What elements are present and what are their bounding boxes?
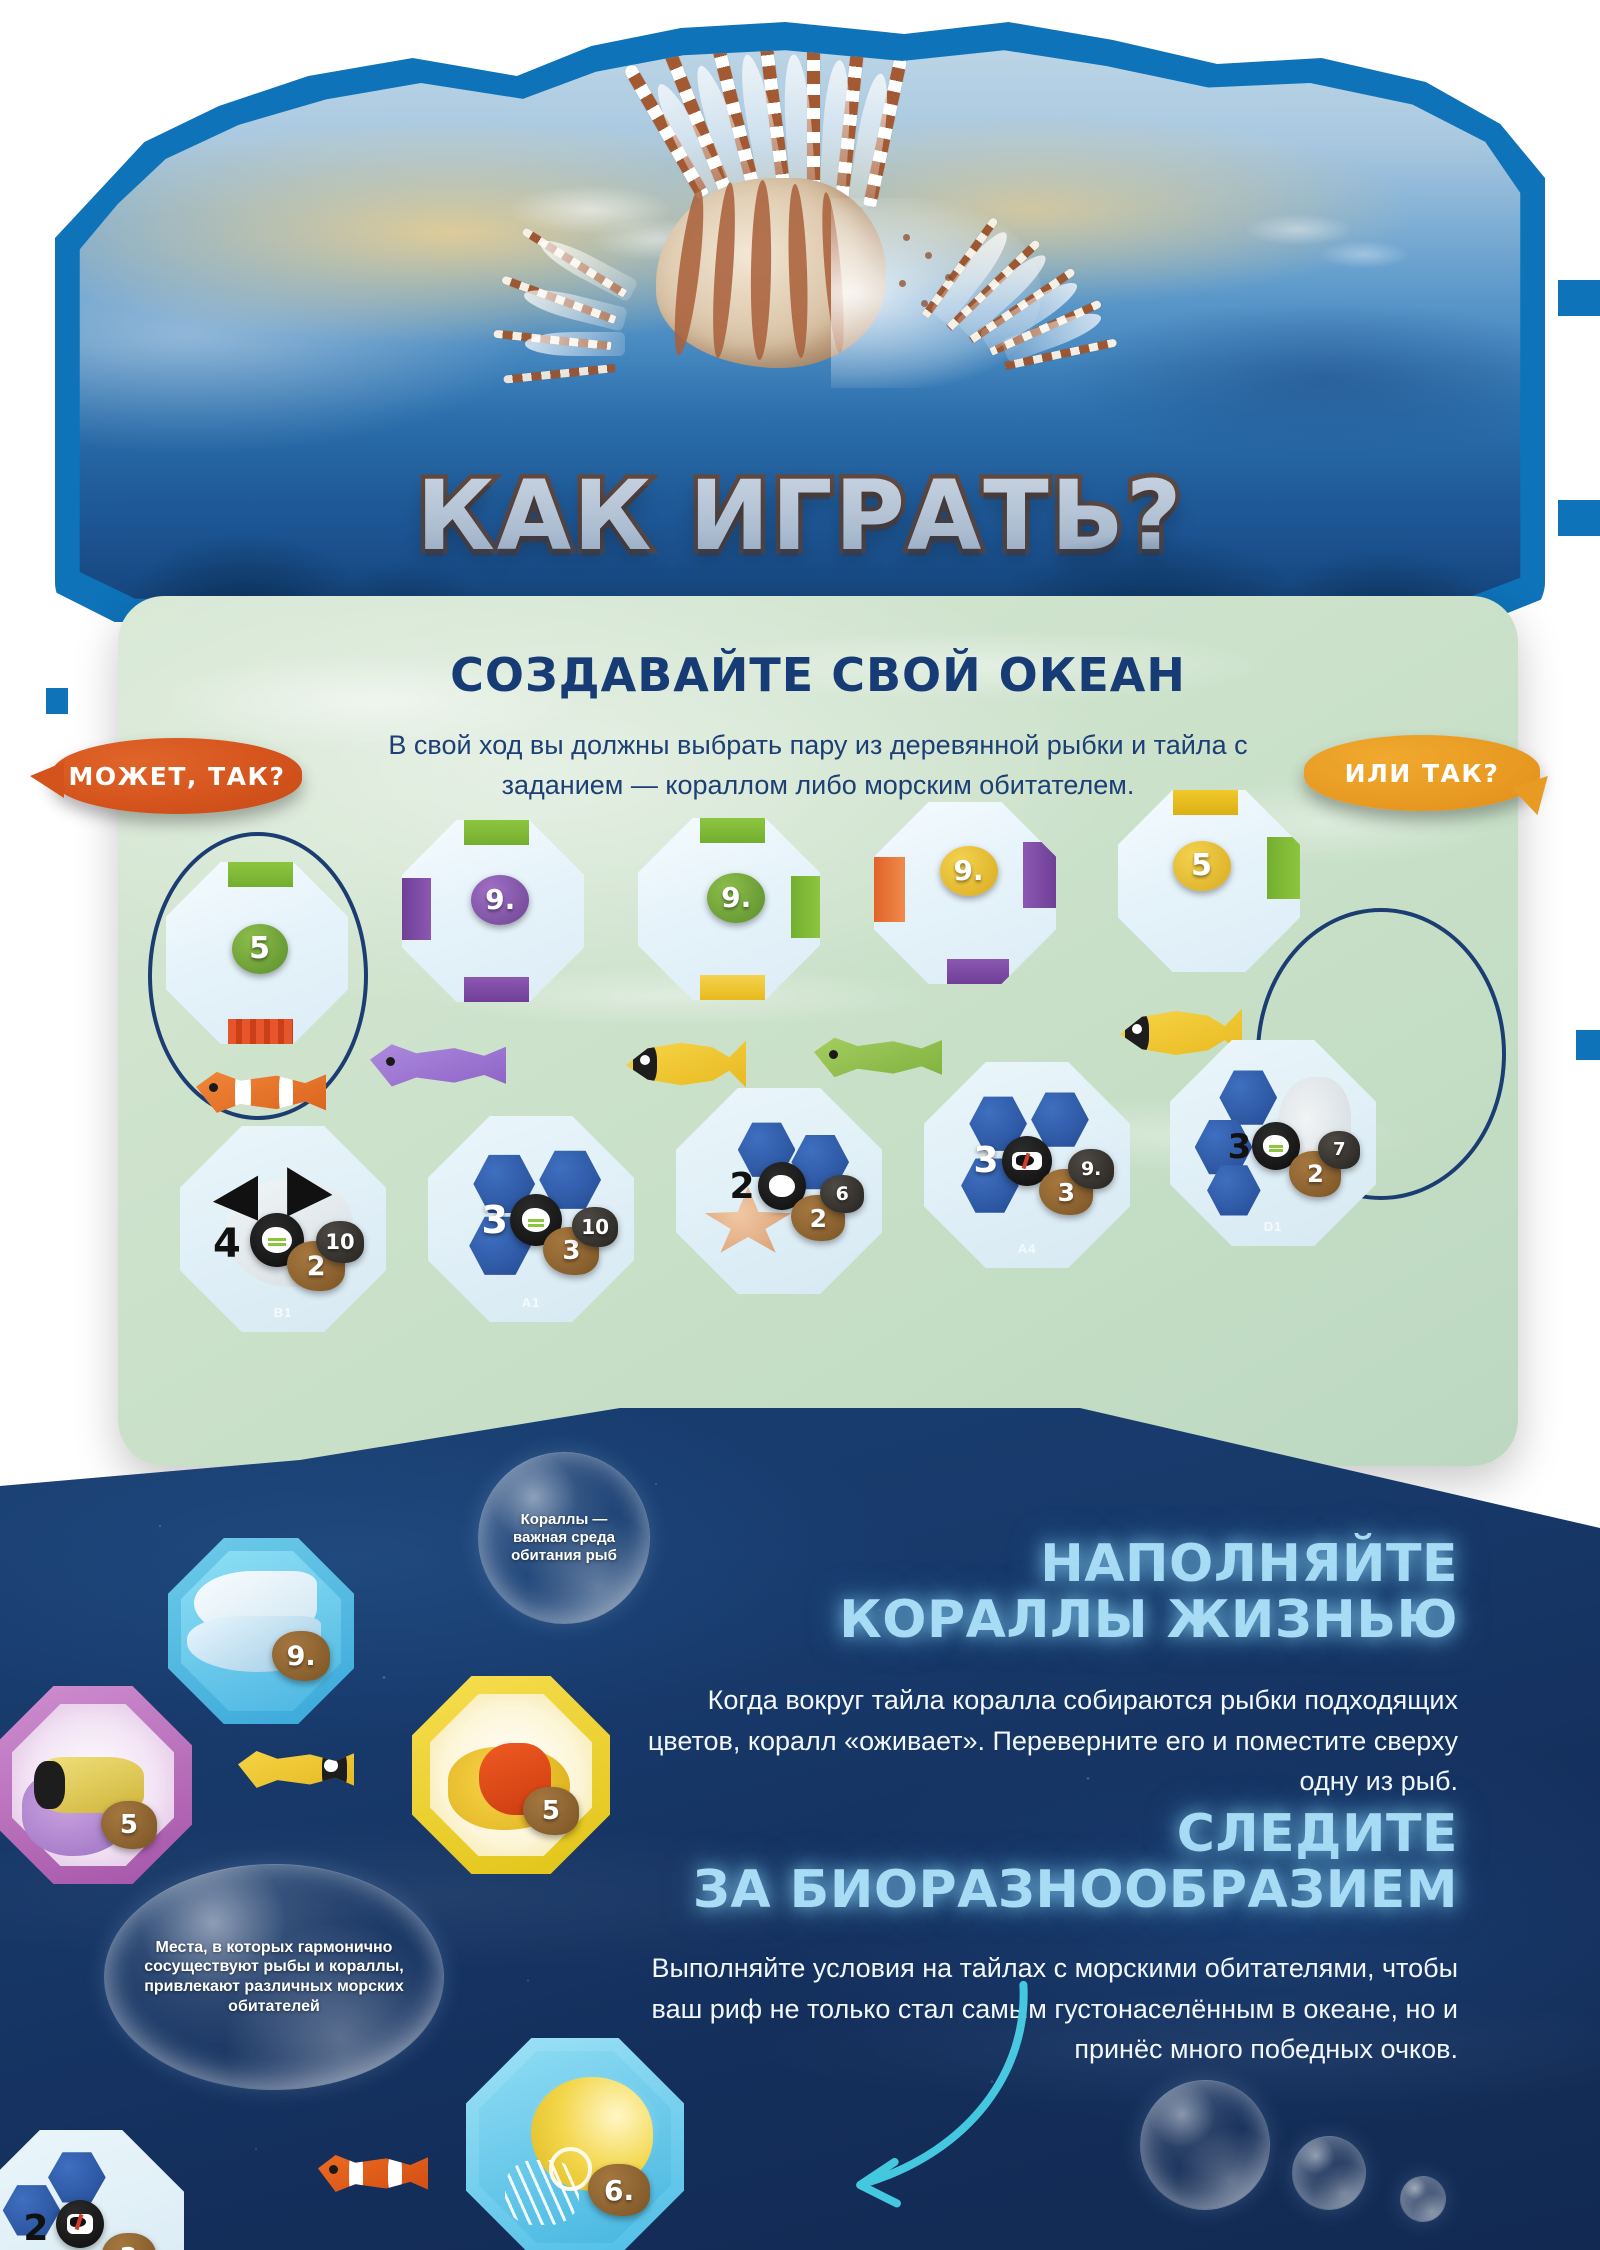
tile-badge: 9. xyxy=(707,873,765,923)
tile-creature-b1[interactable]: 4 2 10 B1 xyxy=(180,1126,386,1332)
tile-badge: 5 xyxy=(232,924,288,974)
callout-bubble-left[interactable]: МОЖЕТ, ТАК? xyxy=(52,738,302,814)
tile-creature-shark[interactable]: 3 3 9. A4 xyxy=(924,1062,1130,1268)
hero-underwater-photo: КАК ИГРАТЬ? xyxy=(71,40,1529,606)
page-title: КАК ИГРАТЬ? xyxy=(71,460,1529,572)
biodiversity-heading-line1: СЛЕДИТЕ xyxy=(1177,1804,1458,1864)
biodiversity-body: Выполняйте условия на тайлах с морскими … xyxy=(628,1948,1458,2070)
lionfish-icon xyxy=(501,40,1121,458)
tile-edge-green xyxy=(228,862,294,887)
info-bubble-corals-text: Кораллы — важная среда обитания рыб xyxy=(499,1511,629,1566)
info-bubble-biodiversity: Места, в которых гармонично сосуществуют… xyxy=(104,1864,444,2090)
biodiversity-heading: СЛЕДИТЕ ЗА БИОРАЗНООБРАЗИЕМ xyxy=(458,1806,1458,1918)
biodiversity-heading-line2: ЗА БИОРАЗНООБРАЗИЕМ xyxy=(693,1860,1458,1920)
tile-count-value: 2 xyxy=(730,1166,755,1207)
tile-badge: 9. xyxy=(940,846,998,896)
tile-coral-purple-9[interactable]: 9. xyxy=(402,820,584,1002)
meeple-yellow-fish[interactable] xyxy=(626,1036,746,1092)
tile-count-token xyxy=(56,2200,104,2248)
tile-count-value: 4 xyxy=(213,1221,241,1267)
bubble-tail-icon xyxy=(1512,776,1559,820)
tile-creature-d1[interactable]: 3 2 7 D1 xyxy=(1170,1040,1376,1246)
decorative-bubble-large xyxy=(1140,2080,1270,2210)
meeple-purple-fish[interactable] xyxy=(370,1034,506,1098)
tile-creature-starfish[interactable]: 2 2 6 xyxy=(676,1088,882,1294)
side-tab-top xyxy=(1558,280,1600,316)
tile-coral-yellow-5[interactable]: 5 xyxy=(1118,790,1300,972)
tile-coral-yellow-9[interactable]: 9. xyxy=(874,802,1056,984)
side-tab-mid xyxy=(1558,500,1600,536)
tile-bonus-token: 10 xyxy=(572,1207,618,1247)
tile-edge-red xyxy=(228,1019,294,1044)
tile-bonus-token: 10 xyxy=(316,1221,364,1263)
tile-code: D1 xyxy=(1170,1219,1376,1234)
tile-count-value: 3 xyxy=(973,1140,998,1181)
callout-bubble-right-label: ИЛИ ТАК? xyxy=(1345,759,1500,788)
create-ocean-panel: СОЗДАВАЙТЕ СВОЙ ОКЕАН В свой ход вы долж… xyxy=(118,596,1518,1466)
tile-edge-purple-left xyxy=(402,878,431,940)
create-ocean-body: В свой ход вы должны выбрать пару из дер… xyxy=(368,726,1268,806)
tile-edge-purple-bottom xyxy=(464,977,530,1002)
bubble-tail-icon xyxy=(30,762,64,798)
tile-edge-yellow-top xyxy=(1173,790,1239,815)
tile-code: B1 xyxy=(180,1305,386,1320)
tile-sharks-9[interactable]: 9. xyxy=(168,1538,354,1724)
meeple-green-fish[interactable] xyxy=(814,1028,942,1088)
tile-bonus-token: 6 xyxy=(820,1175,864,1213)
tile-edge-purple-bottom xyxy=(947,959,1009,984)
tile-bonus-token: 7 xyxy=(1318,1131,1360,1169)
tile-badge: 5 xyxy=(101,1801,157,1849)
tile-creature-a1[interactable]: 3 3 10 A1 xyxy=(428,1116,634,1322)
fill-corals-heading-line2: КОРАЛЛЫ ЖИЗНЬЮ xyxy=(839,1590,1458,1650)
tile-code: A1 xyxy=(428,1295,634,1310)
fill-corals-body: Когда вокруг тайла коралла собираются ры… xyxy=(638,1680,1458,1802)
tile-badge: 9. xyxy=(471,875,529,925)
tile-badge: 5 xyxy=(1173,841,1231,891)
tile-edge-yellow xyxy=(700,975,766,1000)
tile-edge-purple-right xyxy=(1023,842,1056,908)
tile-score-token: 2 xyxy=(102,2233,156,2250)
tile-count-value: 3 xyxy=(1228,1127,1252,1167)
tile-count-value: 2 xyxy=(23,2208,48,2249)
tile-edge-green-top xyxy=(700,818,766,843)
side-tab-low xyxy=(1576,1030,1600,1060)
info-bubble-biodiversity-text: Места, в которых гармонично сосуществуют… xyxy=(134,1938,414,2016)
tile-coral-green-9[interactable]: 9. xyxy=(638,818,820,1000)
decorative-bubble-tiny xyxy=(1400,2176,1446,2222)
info-bubble-corals: Кораллы — важная среда обитания рыб xyxy=(478,1452,650,1624)
tile-edge-green xyxy=(464,820,530,845)
tile-edge-green-right xyxy=(1267,837,1300,899)
fill-corals-heading: НАПОЛНЯЙТЕ КОРАЛЛЫ ЖИЗНЬЮ xyxy=(638,1536,1458,1648)
tile-bonus-token: 9. xyxy=(1068,1149,1114,1189)
curved-arrow-icon xyxy=(740,1978,1040,2208)
tile-count-value: 3 xyxy=(482,1198,508,1242)
tile-code: A4 xyxy=(924,1241,1130,1256)
fill-corals-heading-line1: НАПОЛНЯЙТЕ xyxy=(1040,1534,1458,1594)
tile-badge: 5 xyxy=(523,1787,579,1835)
tile-edge-green-right xyxy=(791,876,820,938)
page-root: КАК ИГРАТЬ? СОЗДАВАЙТЕ СВОЙ ОКЕАН В свой… xyxy=(0,0,1600,2250)
callout-bubble-left-label: МОЖЕТ, ТАК? xyxy=(69,762,286,791)
ocean-section: НАПОЛНЯЙТЕ КОРАЛЛЫ ЖИЗНЬЮ Когда вокруг т… xyxy=(0,1408,1600,2250)
callout-bubble-right[interactable]: ИЛИ ТАК? xyxy=(1304,735,1540,811)
side-tab-left xyxy=(46,688,68,714)
create-ocean-heading: СОЗДАВАЙТЕ СВОЙ ОКЕАН xyxy=(118,648,1518,702)
decorative-bubble-small xyxy=(1292,2136,1366,2210)
tile-badge: 9. xyxy=(272,1631,330,1681)
tile-edge-orange xyxy=(874,857,905,923)
hero-banner: КАК ИГРАТЬ? xyxy=(55,22,1545,622)
